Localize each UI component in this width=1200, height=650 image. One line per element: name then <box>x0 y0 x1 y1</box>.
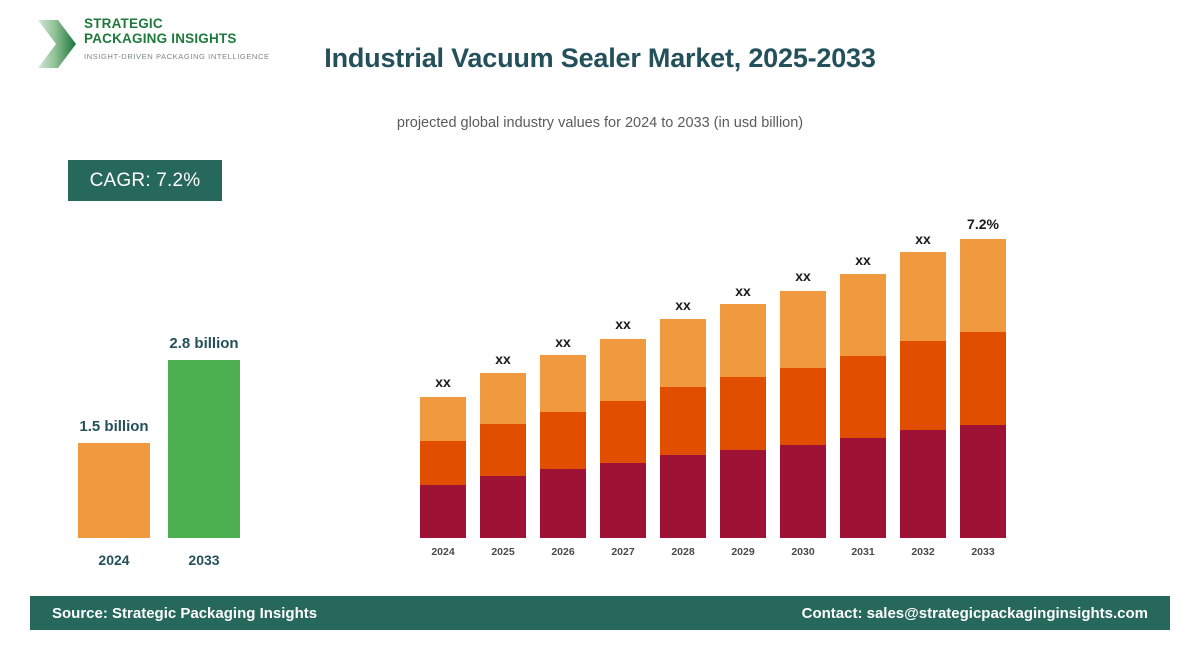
stacked-bar-top-label: 7.2% <box>933 216 1033 232</box>
stacked-bar-x-label: 2033 <box>960 546 1006 558</box>
stacked-bar[interactable] <box>840 274 886 538</box>
stacked-bar[interactable] <box>600 338 646 538</box>
stacked-bar-segment[interactable] <box>720 450 766 538</box>
stacked-bar-segment[interactable] <box>960 332 1006 425</box>
footer-contact-text: Contact: sales@strategicpackaginginsight… <box>802 605 1148 622</box>
stacked-bar-segment[interactable] <box>840 274 886 356</box>
mini-bar[interactable] <box>78 443 150 538</box>
stacked-bar-column: xx2026 <box>540 195 586 560</box>
stacked-bar-x-label: 2026 <box>540 546 586 558</box>
stacked-bar-segment[interactable] <box>480 424 526 476</box>
stacked-bar-x-label: 2028 <box>660 546 706 558</box>
mini-bar-x-label: 2033 <box>168 552 240 568</box>
stacked-bar[interactable] <box>420 396 466 538</box>
stacked-bar-segment[interactable] <box>540 355 586 412</box>
stacked-bar-segment[interactable] <box>780 368 826 445</box>
stacked-bar-column: xx2029 <box>720 195 766 560</box>
stacked-bar-segment[interactable] <box>960 239 1006 332</box>
cagr-badge: CAGR: 7.2% <box>68 160 222 201</box>
stacked-bar-segment[interactable] <box>780 291 826 368</box>
stacked-bar-top-label: xx <box>873 231 973 247</box>
stacked-bar[interactable] <box>720 305 766 538</box>
stacked-bar-x-label: 2024 <box>420 546 466 558</box>
mini-bar-column: 1.5 billion2024 <box>78 320 150 570</box>
stacked-bar-column: xx2028 <box>660 195 706 560</box>
yearly-projection-chart: xx2024xx2025xx2026xx2027xx2028xx2029xx20… <box>405 195 1025 560</box>
stacked-bar-top-label: xx <box>753 268 853 284</box>
footer-bar: Source: Strategic Packaging Insights Con… <box>30 596 1170 630</box>
stacked-bar-segment[interactable] <box>900 341 946 430</box>
stacked-bar-top-label: xx <box>453 351 553 367</box>
stacked-bar-segment[interactable] <box>600 401 646 463</box>
stacked-bar-x-label: 2031 <box>840 546 886 558</box>
endpoint-comparison-chart: 1.5 billion20242.8 billion2033 <box>60 320 320 570</box>
stacked-bar-column: xx2031 <box>840 195 886 560</box>
stacked-bar-segment[interactable] <box>600 339 646 401</box>
page-title-text: Industrial Vacuum Sealer Market, 2025-20… <box>324 43 875 74</box>
stacked-bar-column: xx2027 <box>600 195 646 560</box>
stacked-bar-top-label: xx <box>393 374 493 390</box>
page-subtitle-text: projected global industry values for 202… <box>397 115 803 131</box>
stacked-bar-segment[interactable] <box>720 377 766 450</box>
stacked-bar-top-label: xx <box>693 283 793 299</box>
stacked-bar-segment[interactable] <box>900 252 946 341</box>
stacked-bar-segment[interactable] <box>960 425 1006 538</box>
stacked-bar-top-label: xx <box>513 334 613 350</box>
stacked-bar-top-label: xx <box>633 297 733 313</box>
stacked-bar-segment[interactable] <box>840 438 886 538</box>
mini-bar-x-label: 2024 <box>78 552 150 568</box>
stacked-bar-x-label: 2027 <box>600 546 646 558</box>
stacked-bar-column: xx2032 <box>900 195 946 560</box>
logo-line-1: STRATEGIC <box>84 17 270 32</box>
stacked-bar-x-label: 2032 <box>900 546 946 558</box>
stacked-bar-segment[interactable] <box>660 455 706 538</box>
stacked-bar-segment[interactable] <box>420 485 466 538</box>
stacked-bar-segment[interactable] <box>540 469 586 538</box>
stacked-bar-segment[interactable] <box>480 476 526 538</box>
stacked-bar-x-label: 2025 <box>480 546 526 558</box>
stacked-bar-column: xx2024 <box>420 195 466 560</box>
mini-bar-value-label: 2.8 billion <box>124 335 284 352</box>
stacked-bar-segment[interactable] <box>420 441 466 485</box>
stacked-bar-column: 7.2%2033 <box>960 195 1006 560</box>
stacked-bar-top-label: xx <box>573 316 673 332</box>
stacked-bar[interactable] <box>780 290 826 538</box>
page-subtitle: projected global industry values for 202… <box>0 115 1200 131</box>
stacked-bar-segment[interactable] <box>660 387 706 455</box>
stacked-bar-segment[interactable] <box>600 463 646 538</box>
stacked-bar[interactable] <box>660 319 706 538</box>
stacked-bar-top-label: xx <box>813 252 913 268</box>
mini-bar[interactable] <box>168 360 240 538</box>
cagr-badge-label: CAGR: 7.2% <box>90 170 201 192</box>
stacked-bar-segment[interactable] <box>720 304 766 377</box>
stacked-bar-segment[interactable] <box>780 445 826 538</box>
stacked-bar-x-label: 2030 <box>780 546 826 558</box>
footer-source-text: Source: Strategic Packaging Insights <box>52 605 317 622</box>
stacked-bar[interactable] <box>480 373 526 538</box>
page-title: Industrial Vacuum Sealer Market, 2025-20… <box>0 43 1200 74</box>
stacked-bar[interactable] <box>900 253 946 538</box>
stacked-bar-segment[interactable] <box>540 412 586 469</box>
stacked-bar-column: xx2025 <box>480 195 526 560</box>
stacked-bar[interactable] <box>960 238 1006 538</box>
stacked-bar-column: xx2030 <box>780 195 826 560</box>
stacked-bar-segment[interactable] <box>420 397 466 441</box>
stacked-bar-x-label: 2029 <box>720 546 766 558</box>
stacked-bar-segment[interactable] <box>840 356 886 438</box>
stacked-bar-segment[interactable] <box>660 319 706 387</box>
mini-bar-column: 2.8 billion2033 <box>168 320 240 570</box>
stacked-bar[interactable] <box>540 356 586 538</box>
stacked-bar-segment[interactable] <box>900 430 946 538</box>
stacked-bar-segment[interactable] <box>480 373 526 424</box>
